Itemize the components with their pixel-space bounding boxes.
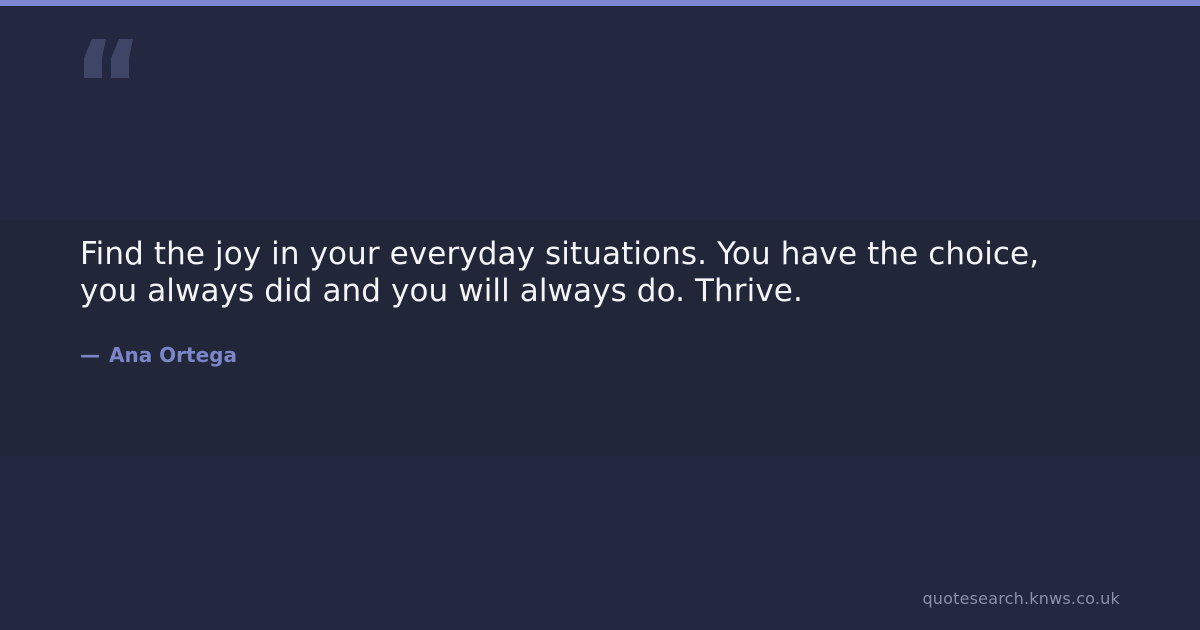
quote-author: —Ana Ortega [80, 343, 1080, 367]
site-watermark: quotesearch.knws.co.uk [922, 589, 1120, 609]
author-name: Ana Ortega [109, 343, 237, 367]
author-dash: — [80, 343, 100, 367]
quote-content: Find the joy in your everyday situations… [80, 236, 1080, 367]
top-accent-bar [0, 0, 1200, 6]
quote-mark-icon [78, 18, 148, 88]
quote-text: Find the joy in your everyday situations… [80, 236, 1070, 310]
quote-card: Find the joy in your everyday situations… [0, 0, 1200, 630]
